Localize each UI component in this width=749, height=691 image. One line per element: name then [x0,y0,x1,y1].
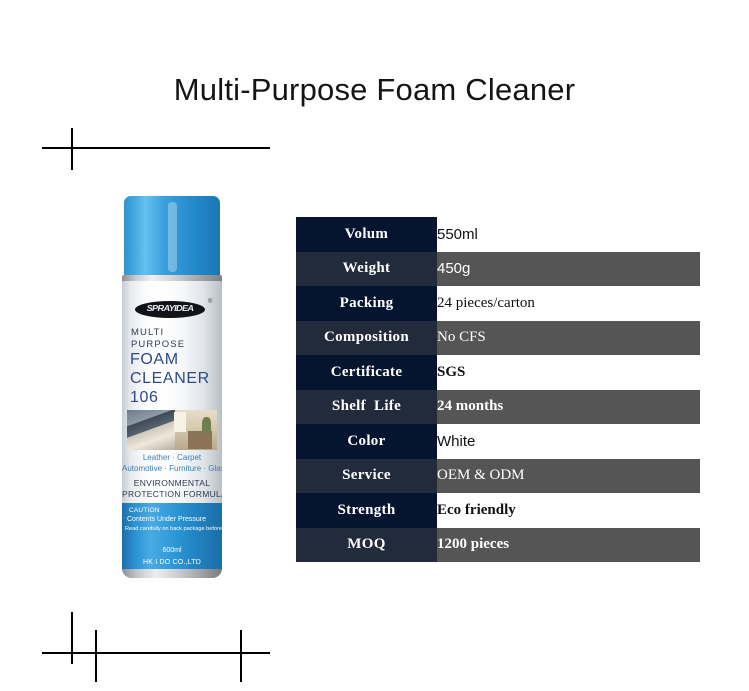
spec-label-cell: Composition [296,321,437,356]
table-row: Weight450g [296,252,700,287]
page-title: Multi-Purpose Foam Cleaner [0,72,749,108]
can-caution-band: CAUTION Contents Under Pressure Read car… [122,503,222,578]
specification-table: Volum550mlWeight450gPacking24 pieces/car… [296,217,700,562]
crop-mark-bottom-vertical-1 [71,612,73,664]
registered-trademark-icon: ® [208,299,212,305]
spec-value-cell: White [437,424,700,459]
spec-label-cell: MOQ [296,528,437,563]
room-plant-detail [202,417,211,433]
spec-value-cell: OEM & ODM [437,459,700,494]
table-row: ColorWhite [296,424,700,459]
spray-cap-icon [124,196,220,278]
caution-title: CAUTION [129,507,160,514]
specification-table-body: Volum550mlWeight450gPacking24 pieces/car… [296,217,700,562]
spec-value-cell: 550ml [437,217,700,252]
table-row: Volum550ml [296,217,700,252]
can-base [122,569,222,578]
cap-gloss-highlight [168,202,177,272]
caution-line-1: Contents Under Pressure [127,516,206,523]
spec-value-cell: 24 months [437,390,700,425]
room-window-detail [174,412,186,432]
can-text-foam: FOAM [130,351,179,369]
table-row: CompositionNo CFS [296,321,700,356]
room-sofa-detail [188,431,212,449]
table-row: Packing24 pieces/carton [296,286,700,321]
caution-line-2: Read carefully on back package before us… [125,526,222,532]
spec-label-cell: Service [296,459,437,494]
spec-label-cell: Shelf Life [296,390,437,425]
crop-mark-bottom-horizontal [42,652,270,654]
product-can-image: SPRAYIDEA ® MULTI PURPOSE FOAM CLEANER 1… [113,196,231,586]
spec-label-cell: Color [296,424,437,459]
table-row: MOQ1200 pieces [296,528,700,563]
crop-mark-bottom-vertical-2 [95,630,97,682]
can-product-code: 106 [130,389,159,407]
can-body: SPRAYIDEA ® MULTI PURPOSE FOAM CLEANER 1… [122,281,222,578]
crop-mark-top-horizontal [42,147,270,149]
spec-label-cell: Strength [296,493,437,528]
spec-value-cell: Eco friendly [437,493,700,528]
spec-label-cell: Packing [296,286,437,321]
can-text-purpose: PURPOSE [131,339,185,350]
can-formula-line-1: ENVIRONMENTAL [122,478,222,488]
can-text-cleaner: CLEANER [130,370,210,388]
spec-label-cell: Certificate [296,355,437,390]
brand-logo-badge: SPRAYIDEA [135,301,205,318]
table-row: Shelf Life24 months [296,390,700,425]
can-formula-line-2: PROTECTION FORMULA [122,489,222,499]
spec-value-cell: 450g [437,252,700,287]
spec-label-cell: Volum [296,217,437,252]
brand-logo-text: SPRAYIDEA [135,304,205,313]
spec-value-cell: 24 pieces/carton [437,286,700,321]
car-interior-photo [127,410,175,450]
crop-mark-bottom-vertical-3 [240,630,242,682]
table-row: StrengthEco friendly [296,493,700,528]
spec-value-cell: SGS [437,355,700,390]
crop-mark-top-vertical [71,128,73,170]
can-company-text: HK I DO CO.,LTD [122,559,222,566]
can-uses-line-2: Automotive · Furniture · Glass [122,464,222,473]
table-row: ServiceOEM & ODM [296,459,700,494]
can-volume-text: 600ml [122,547,222,554]
spec-value-cell: 1200 pieces [437,528,700,563]
table-row: CertificateSGS [296,355,700,390]
can-text-multi: MULTI [131,327,164,338]
spec-value-cell: No CFS [437,321,700,356]
spec-label-cell: Weight [296,252,437,287]
can-uses-line-1: Leather · Carpet [122,453,222,462]
